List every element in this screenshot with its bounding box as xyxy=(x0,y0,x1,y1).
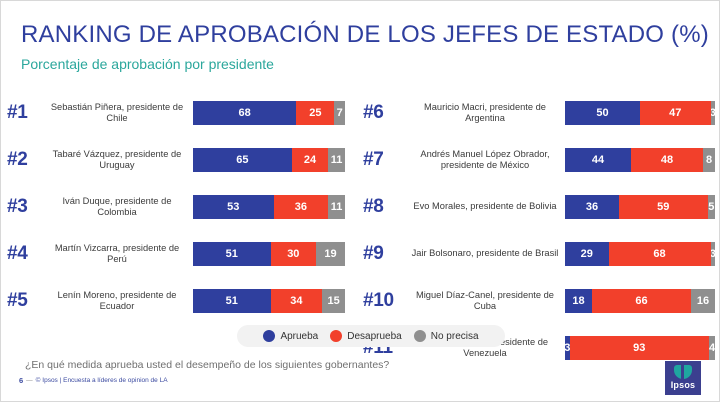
bar-segment-noanswer: 4 xyxy=(709,336,715,360)
bar-segment-disapprove: 34 xyxy=(271,289,323,313)
rank-label: #1 xyxy=(1,102,41,124)
credit-text: © Ipsos | Encuesta a líderes de opinion … xyxy=(36,377,168,384)
slide-root: RANKING DE APROBACIÓN DE LOS JEFES DE ES… xyxy=(0,0,720,402)
president-name: Sebastián Piñera, presidente de Chile xyxy=(41,102,193,124)
bar-segment-noanswer: 16 xyxy=(691,289,715,313)
bar-segment-approve: 29 xyxy=(565,242,609,266)
bar-segment-noanswer: 3 xyxy=(711,242,716,266)
stacked-bar: 68257 xyxy=(193,101,345,125)
president-name: Mauricio Macri, presidente de Argentina xyxy=(405,102,565,124)
ranking-row: #8Evo Morales, presidente de Bolivia3659… xyxy=(357,183,720,230)
ranking-row: #10Miguel Díaz-Canel, presidente de Cuba… xyxy=(357,277,720,324)
ranking-row: #6Mauricio Macri, presidente de Argentin… xyxy=(357,89,720,136)
rank-label: #3 xyxy=(1,196,41,218)
bar-segment-approve: 36 xyxy=(565,195,619,219)
legend-swatch-approve-icon xyxy=(263,330,275,342)
president-name: Tabaré Vázquez, presidente de Uruguay xyxy=(41,149,193,171)
bar-segment-disapprove: 36 xyxy=(274,195,329,219)
bar-segment-approve: 53 xyxy=(193,195,274,219)
president-name: Martín Vizcarra, presidente de Perú xyxy=(41,243,193,265)
bar-segment-approve: 68 xyxy=(193,101,296,125)
page-number: 6 xyxy=(19,376,23,385)
president-name: Evo Morales, presidente de Bolivia xyxy=(405,201,565,212)
bar-segment-disapprove: 30 xyxy=(271,242,317,266)
bar-segment-noanswer: 7 xyxy=(334,101,345,125)
stacked-bar: 186616 xyxy=(565,289,715,313)
rank-label: #7 xyxy=(357,149,405,171)
ranking-row: #9Jair Bolsonaro, presidente de Brasil29… xyxy=(357,230,720,277)
stacked-bar: 50473 xyxy=(565,101,715,125)
bar-segment-noanswer: 8 xyxy=(703,148,715,172)
bar-segment-noanswer: 19 xyxy=(316,242,345,266)
bar-segment-disapprove: 59 xyxy=(619,195,708,219)
ipsos-quote-icon xyxy=(674,365,692,379)
ranking-row: #5Lenín Moreno, presidente de Ecuador513… xyxy=(1,277,359,324)
bar-segment-approve: 18 xyxy=(565,289,592,313)
footer-credit: 6 — © Ipsos | Encuesta a líderes de opin… xyxy=(19,376,168,385)
president-name: Miguel Díaz-Canel, presidente de Cuba xyxy=(405,290,565,312)
stacked-bar: 652411 xyxy=(193,148,345,172)
ipsos-logo-text: Ipsos xyxy=(665,380,701,390)
bar-segment-approve: 65 xyxy=(193,148,292,172)
ipsos-logo: Ipsos xyxy=(665,361,701,395)
bar-segment-disapprove: 66 xyxy=(592,289,691,313)
ranking-row: #4Martín Vizcarra, presidente de Perú513… xyxy=(1,230,359,277)
bar-segment-noanswer: 3 xyxy=(711,101,716,125)
rank-label: #2 xyxy=(1,149,41,171)
bar-segment-approve: 51 xyxy=(193,242,271,266)
page-subtitle: Porcentaje de aprobación por presidente xyxy=(21,55,274,73)
bar-segment-noanswer: 5 xyxy=(708,195,716,219)
stacked-bar: 513019 xyxy=(193,242,345,266)
president-name: Lenín Moreno, presidente de Ecuador xyxy=(41,290,193,312)
bar-segment-noanswer: 15 xyxy=(322,289,345,313)
stacked-bar: 44488 xyxy=(565,148,715,172)
legend-item-disapprove: Desaprueba xyxy=(330,330,401,342)
stacked-bar: 3934 xyxy=(565,336,715,360)
legend-item-noanswer: No precisa xyxy=(414,330,479,342)
president-name: Iván Duque, presidente de Colombia xyxy=(41,196,193,218)
ranking-row: #7Andrés Manuel López Obrador, president… xyxy=(357,136,720,183)
ranking-row: #3Iván Duque, presidente de Colombia5336… xyxy=(1,183,359,230)
credit-dash: — xyxy=(26,377,33,384)
bar-segment-disapprove: 48 xyxy=(631,148,703,172)
legend-label-noanswer: No precisa xyxy=(431,331,479,342)
survey-question: ¿En qué medida aprueba usted el desempeñ… xyxy=(25,359,389,371)
bar-segment-approve: 51 xyxy=(193,289,271,313)
bar-segment-noanswer: 11 xyxy=(328,148,345,172)
bar-segment-disapprove: 93 xyxy=(570,336,710,360)
stacked-bar: 533611 xyxy=(193,195,345,219)
legend-item-approve: Aprueba xyxy=(263,330,318,342)
rank-label: #10 xyxy=(357,290,405,312)
page-title: RANKING DE APROBACIÓN DE LOS JEFES DE ES… xyxy=(21,21,709,49)
legend-swatch-noanswer-icon xyxy=(414,330,426,342)
rank-label: #9 xyxy=(357,243,405,265)
ranking-row: #1Sebastián Piñera, presidente de Chile6… xyxy=(1,89,359,136)
legend-swatch-disapprove-icon xyxy=(330,330,342,342)
rank-label: #8 xyxy=(357,196,405,218)
bar-segment-disapprove: 68 xyxy=(609,242,711,266)
chart-legend: Aprueba Desaprueba No precisa xyxy=(237,325,505,347)
legend-label-approve: Aprueba xyxy=(280,331,318,342)
bar-segment-noanswer: 11 xyxy=(328,195,345,219)
bar-segment-disapprove: 47 xyxy=(640,101,711,125)
stacked-bar: 36595 xyxy=(565,195,715,219)
president-name: Jair Bolsonaro, presidente de Brasil xyxy=(405,248,565,259)
bar-segment-disapprove: 24 xyxy=(292,148,328,172)
bar-segment-disapprove: 25 xyxy=(296,101,334,125)
rank-label: #5 xyxy=(1,290,41,312)
bar-segment-approve: 50 xyxy=(565,101,640,125)
ranking-row: #2Tabaré Vázquez, presidente de Uruguay6… xyxy=(1,136,359,183)
bar-segment-approve: 44 xyxy=(565,148,631,172)
rank-label: #6 xyxy=(357,102,405,124)
president-name: Andrés Manuel López Obrador, presidente … xyxy=(405,149,565,171)
stacked-bar: 513415 xyxy=(193,289,345,313)
ranking-column-left: #1Sebastián Piñera, presidente de Chile6… xyxy=(1,89,359,324)
legend-label-disapprove: Desaprueba xyxy=(347,331,401,342)
rank-label: #4 xyxy=(1,243,41,265)
stacked-bar: 29683 xyxy=(565,242,715,266)
